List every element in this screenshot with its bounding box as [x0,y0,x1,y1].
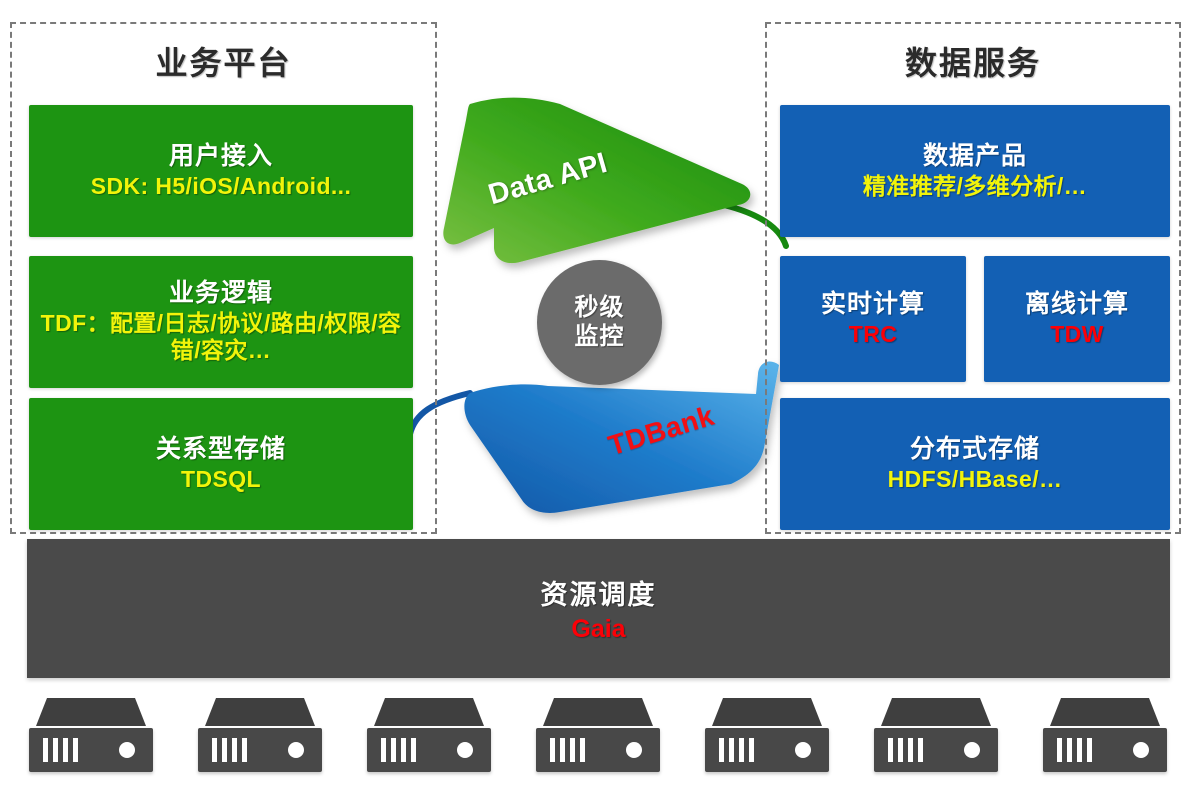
server-rack-top [374,698,484,726]
block-distributed-storage-subtitle: HDFS/HBase/… [888,466,1063,494]
server-rack-vents [381,738,416,762]
block-realtime-compute[interactable]: 实时计算 TRC [780,256,966,382]
resource-scheduling-bar[interactable]: 资源调度 Gaia [27,539,1170,678]
block-business-logic-title: 业务逻辑 [169,279,273,308]
block-realtime-compute-title: 实时计算 [821,290,925,319]
block-data-product[interactable]: 数据产品 精准推荐/多维分析/… [780,105,1170,237]
block-data-product-title: 数据产品 [923,142,1027,171]
business-platform-title: 业务平台 [12,38,435,84]
server-rack-top [1050,698,1160,726]
block-realtime-compute-subtitle: TRC [849,321,897,349]
server-rack-led [626,742,642,758]
server-rack-body [367,728,491,772]
server-rack-icon [874,698,998,772]
block-data-product-subtitle: 精准推荐/多维分析/… [863,173,1087,201]
server-rack-top [543,698,653,726]
block-user-access-title: 用户接入 [169,142,273,171]
server-rack-body [29,728,153,772]
server-rack-led [964,742,980,758]
block-relational-storage[interactable]: 关系型存储 TDSQL [29,398,413,530]
server-rack-icon [705,698,829,772]
server-rack-body [198,728,322,772]
server-rack-icon [29,698,153,772]
monitoring-badge[interactable]: 秒级 监控 [537,260,662,385]
resource-scheduling-subtitle: Gaia [571,615,625,644]
server-rack-led [457,742,473,758]
server-rack-row [0,698,1192,780]
tdbank-arrow [464,362,779,513]
server-rack-icon [1043,698,1167,772]
server-rack-body [874,728,998,772]
block-user-access[interactable]: 用户接入 SDK: H5/iOS/Android... [29,105,413,237]
server-rack-top [712,698,822,726]
server-rack-top [881,698,991,726]
block-relational-storage-title: 关系型存储 [156,435,286,464]
server-rack-icon [367,698,491,772]
server-rack-top [205,698,315,726]
block-business-logic[interactable]: 业务逻辑 TDF：配置/日志/协议/路由/权限/容错/容灾… [29,256,413,388]
server-rack-vents [43,738,78,762]
data-api-arrow [443,98,750,264]
block-relational-storage-subtitle: TDSQL [181,466,261,494]
server-rack-vents [719,738,754,762]
server-rack-vents [888,738,923,762]
block-distributed-storage[interactable]: 分布式存储 HDFS/HBase/… [780,398,1170,530]
resource-scheduling-title: 资源调度 [541,573,657,612]
server-rack-led [288,742,304,758]
server-rack-led [795,742,811,758]
block-offline-compute[interactable]: 离线计算 TDW [984,256,1170,382]
data-service-title: 数据服务 [767,38,1179,84]
block-offline-compute-subtitle: TDW [1050,321,1104,349]
block-offline-compute-title: 离线计算 [1025,290,1129,319]
server-rack-led [1133,742,1149,758]
server-rack-vents [550,738,585,762]
server-rack-vents [1057,738,1092,762]
tdbank-label: TDBank [605,400,718,462]
server-rack-icon [198,698,322,772]
server-rack-icon [536,698,660,772]
server-rack-body [1043,728,1167,772]
block-user-access-subtitle: SDK: H5/iOS/Android... [91,173,352,201]
server-rack-body [536,728,660,772]
server-rack-top [36,698,146,726]
server-rack-vents [212,738,247,762]
data-api-label: Data API [485,147,612,212]
block-distributed-storage-title: 分布式存储 [910,435,1040,464]
diagram-canvas: Data API TDBank 业务平台 用户接入 SDK: H5/iOS/An… [0,0,1192,788]
monitoring-line1: 秒级 [575,294,625,322]
block-business-logic-subtitle: TDF：配置/日志/协议/路由/权限/容错/容灾… [35,310,407,365]
monitoring-line2: 监控 [575,323,625,351]
server-rack-led [119,742,135,758]
server-rack-body [705,728,829,772]
